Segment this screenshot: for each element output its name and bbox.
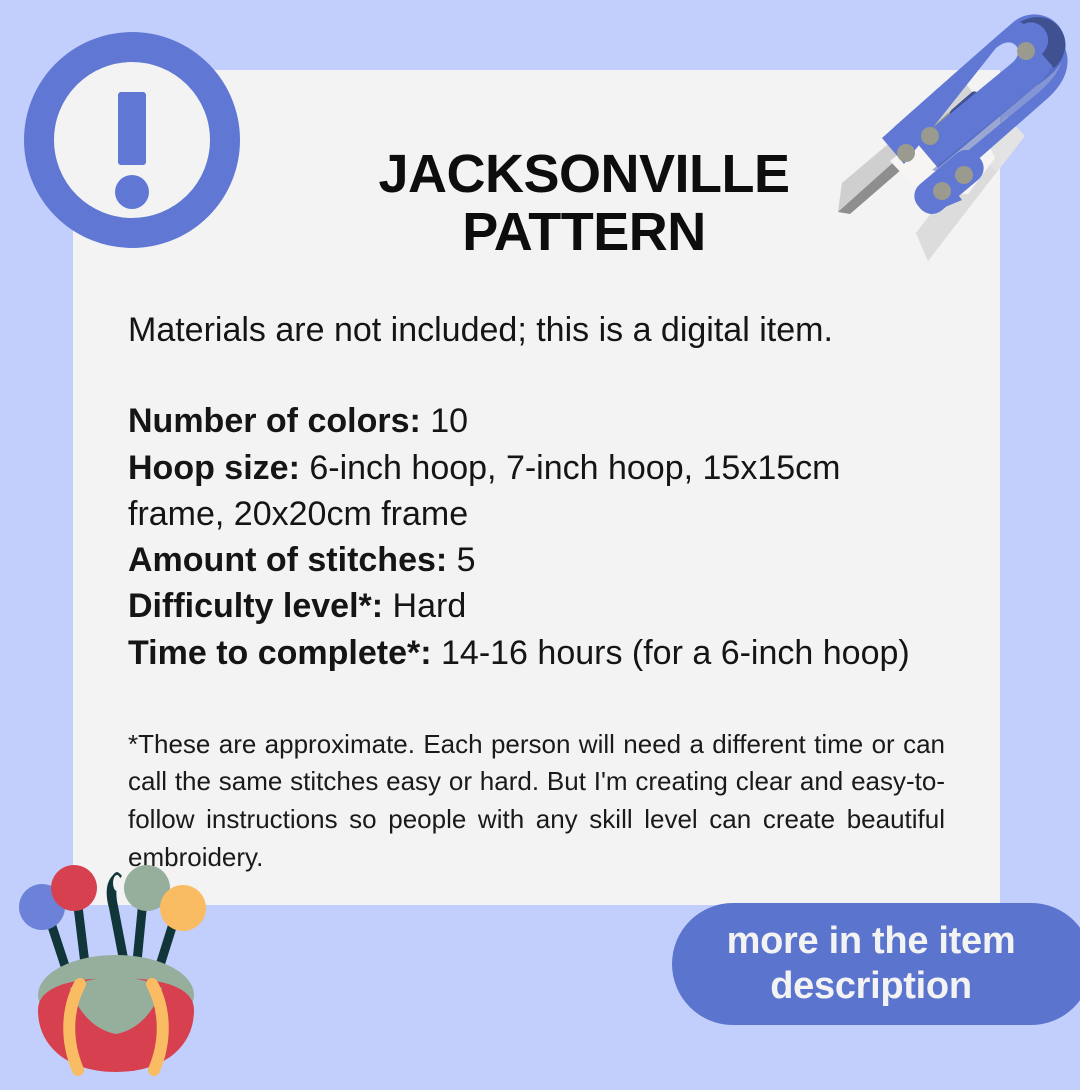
exclamation-dot	[115, 175, 149, 209]
spec-label-hoop-size: Hoop size:	[128, 449, 300, 487]
exclamation-mark-circle-icon	[24, 32, 240, 248]
spec-item-hoop-size: Hoop size: 6-inch hoop, 7-inch hoop, 15x…	[128, 445, 945, 537]
spec-item-difficulty: Difficulty level*: Hard	[128, 583, 945, 629]
spec-item-stitches: Amount of stitches: 5	[128, 537, 945, 583]
cta-label-line-1: more in the item	[727, 920, 1016, 962]
cta-label: more in the item description	[727, 919, 1038, 1009]
spec-label-colors: Number of colors:	[128, 402, 421, 440]
spec-list: Number of colors: 10 Hoop size: 6-inch h…	[128, 398, 945, 675]
spec-item-time: Time to complete*: 14-16 hours (for a 6-…	[128, 630, 945, 676]
spec-item-colors: Number of colors: 10	[128, 398, 945, 444]
spec-value-time: 14-16 hours (for a 6-inch hoop)	[441, 634, 910, 672]
intro-text: Materials are not included; this is a di…	[128, 310, 945, 351]
spec-label-stitches: Amount of stitches:	[128, 541, 447, 579]
thread-snips-icon	[820, 8, 1080, 268]
tomato-pincushion-icon	[8, 860, 238, 1085]
spec-value-difficulty: Hard	[393, 587, 467, 625]
cta-label-line-2: description	[770, 965, 972, 1007]
exclamation-bar	[118, 92, 146, 165]
footnote-text: *These are approximate. Each person will…	[128, 726, 945, 877]
spec-label-time: Time to complete*:	[128, 634, 432, 672]
more-in-item-description-button[interactable]: more in the item description	[672, 903, 1080, 1025]
pin-head-orange	[160, 885, 206, 931]
spec-value-stitches: 5	[457, 541, 476, 579]
page-title-line-2: PATTERN	[462, 202, 705, 262]
pin-head-red	[51, 865, 97, 911]
spec-label-difficulty: Difficulty level*:	[128, 587, 383, 625]
page-title-line-1: JACKSONVILLE	[378, 144, 789, 204]
spec-value-colors: 10	[430, 402, 468, 440]
